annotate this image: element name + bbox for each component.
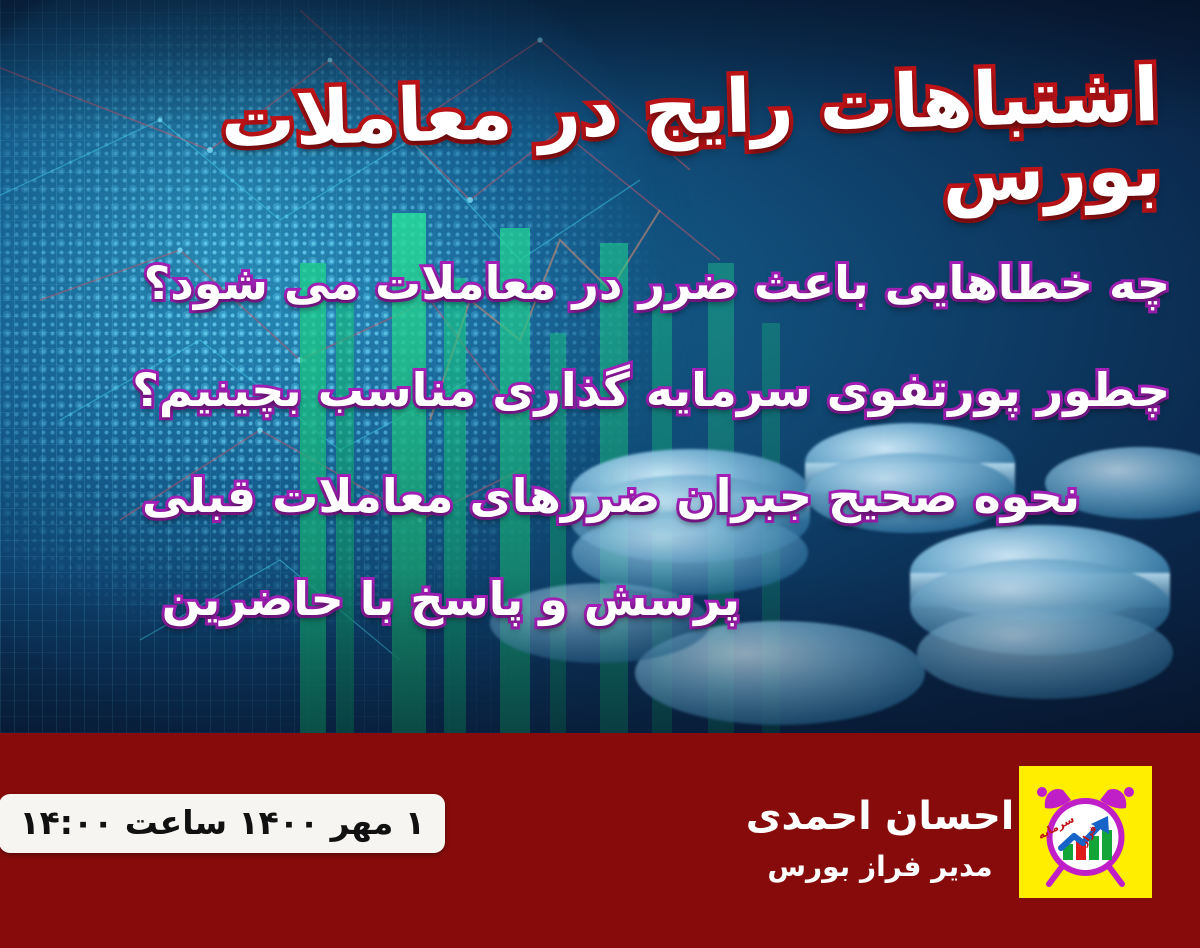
event-date-badge: ۱ مهر ۱۴۰۰ ساعت ۱۴:۰۰: [0, 794, 445, 853]
speaker-block: احسان احمدی مدیر فراز بورس: [740, 795, 1020, 883]
bullet-line-3: نحوه صحیح جبران ضررهای معاملات قبلی: [20, 463, 1080, 530]
poster-footer: ۱ مهر ۱۴۰۰ ساعت ۱۴:۰۰ احسان احمدی مدیر ف…: [0, 733, 1200, 948]
poster-bullet-lines: چه خطاهایی باعث ضرر در معاملات می شود؟ چ…: [20, 250, 1170, 645]
bullet-line-2: چطور پورتفوی سرمایه گذاری مناسب بچینیم؟: [20, 357, 1170, 424]
bullet-line-1: چه خطاهایی باعث ضرر در معاملات می شود؟: [20, 250, 1170, 317]
brand-logo: سرمایه فراز: [1019, 766, 1152, 898]
poster-canvas: اشتباهات رایج در معاملات بورس چه خطاهایی…: [0, 0, 1200, 948]
speaker-role: مدیر فراز بورس: [740, 850, 1020, 884]
poster-title-block: اشتباهات رایج در معاملات بورس: [40, 58, 1160, 209]
speaker-name: احسان احمدی: [740, 795, 1020, 840]
alarm-clock-growth-chart-icon: سرمایه فراز: [1019, 766, 1152, 898]
bullet-line-4: پرسش و پاسخ با حاضرین: [20, 566, 740, 633]
page-title: اشتباهات رایج در معاملات بورس: [38, 58, 1162, 240]
